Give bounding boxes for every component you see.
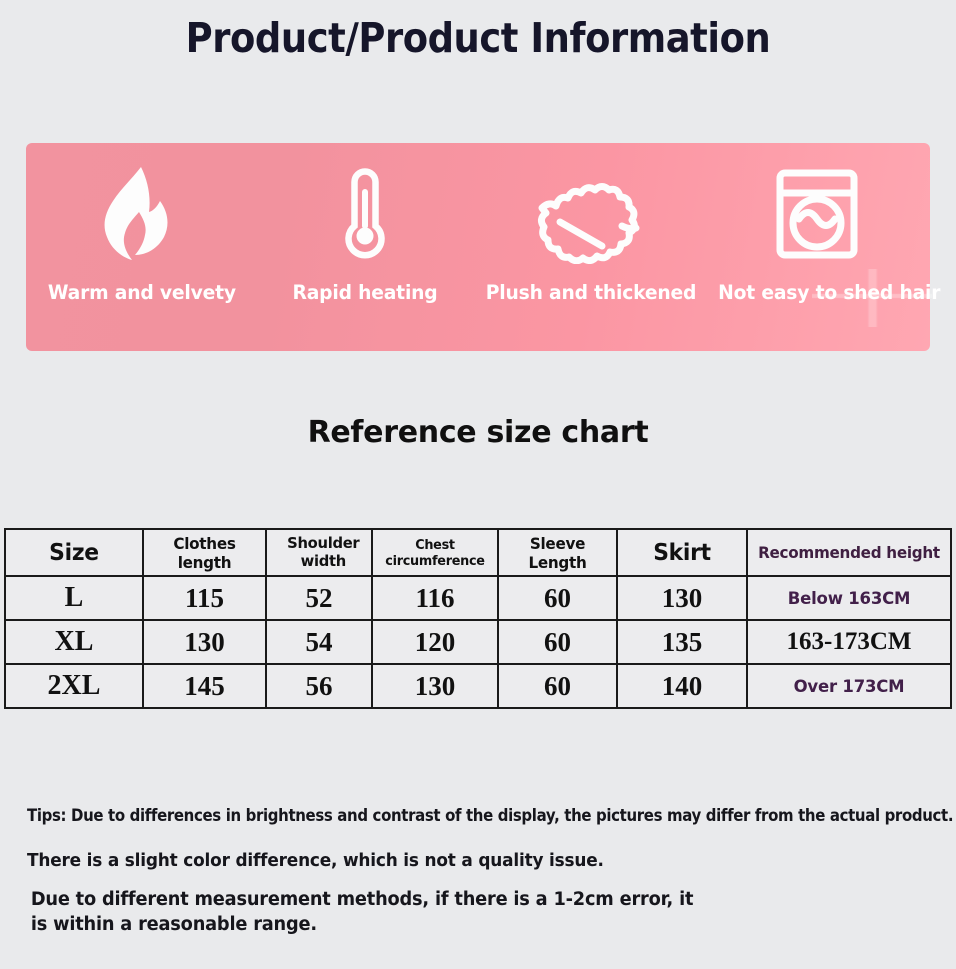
cell-chest-circumference: 120 xyxy=(372,620,498,664)
table-row: XL 130 54 120 60 135 163-173CM xyxy=(5,620,951,664)
column-header-skirt: Skirt xyxy=(620,529,744,576)
feature-plush-and-thickened: Plush and thickened xyxy=(478,143,704,351)
folded-blanket-icon xyxy=(478,161,704,266)
cell-size: XL xyxy=(5,620,143,664)
table-header-row: Size Clothes length Shoulder width Chest… xyxy=(5,529,951,576)
tips-line-3: Due to different measurement methods, if… xyxy=(27,888,699,938)
cell-sleeve-length: 60 xyxy=(498,664,617,708)
column-header-clothes-length: Clothes length xyxy=(146,529,263,576)
column-header-size: Size xyxy=(8,529,139,576)
cell-shoulder-width: 56 xyxy=(266,664,372,708)
cell-shoulder-width: 52 xyxy=(266,576,372,620)
washing-machine-icon xyxy=(704,161,930,266)
thermometer-icon xyxy=(252,161,478,266)
feature-label: Plush and thickened xyxy=(483,281,700,304)
feature-banner: Warm and velvety Rapid heating Plush and… xyxy=(26,143,930,351)
cell-sleeve-length: 60 xyxy=(498,620,617,664)
table-row: L 115 52 116 60 130 Below 163CM xyxy=(5,576,951,620)
feature-warm-and-velvety: Warm and velvety xyxy=(26,143,252,351)
feature-label: Rapid heating xyxy=(257,281,474,304)
cell-recommended-height: Below 163CM xyxy=(747,576,951,620)
cell-skirt: 135 xyxy=(617,620,747,664)
cell-recommended-height: 163-173CM xyxy=(747,620,951,664)
cell-clothes-length: 145 xyxy=(143,664,266,708)
cell-recommended-height: Over 173CM xyxy=(747,664,951,708)
feature-label: Warm and velvety xyxy=(31,281,248,304)
cell-clothes-length: 115 xyxy=(143,576,266,620)
cell-clothes-length: 130 xyxy=(143,620,266,664)
tips-block: Tips: Due to differences in brightness a… xyxy=(27,806,932,938)
cell-chest-circumference: 130 xyxy=(372,664,498,708)
page-title: Product/Product Information xyxy=(48,14,908,62)
shoulder-width-line-1: Shoulder xyxy=(280,535,366,552)
column-header-chest-circumference: Chest circumference xyxy=(375,529,495,576)
feature-rapid-heating: Rapid heating xyxy=(252,143,478,351)
cell-size: L xyxy=(5,576,143,620)
tips-line-2: There is a slight color difference, whic… xyxy=(27,850,878,871)
flame-icon xyxy=(26,161,252,266)
reference-size-table: Size Clothes length Shoulder width Chest… xyxy=(4,528,952,709)
cell-skirt: 130 xyxy=(617,576,747,620)
column-header-shoulder-width: Shoulder width xyxy=(269,529,370,576)
cell-chest-circumference: 116 xyxy=(372,576,498,620)
size-chart-heading: Reference size chart xyxy=(0,415,956,450)
cell-shoulder-width: 54 xyxy=(266,620,372,664)
feature-not-easy-to-shed-hair: Not easy to shed hair xyxy=(704,143,930,351)
cell-sleeve-length: 60 xyxy=(498,576,617,620)
cell-skirt: 140 xyxy=(617,664,747,708)
table-row: 2XL 145 56 130 60 140 Over 173CM xyxy=(5,664,951,708)
feature-label: Not easy to shed hair xyxy=(709,281,926,304)
shoulder-width-line-2: width xyxy=(280,553,366,570)
column-header-sleeve-length: Sleeve Length xyxy=(501,529,614,576)
column-header-recommended-height: Recommended height xyxy=(752,529,946,576)
cell-size: 2XL xyxy=(5,664,143,708)
tips-line-1: Tips: Due to differences in brightness a… xyxy=(27,806,823,826)
